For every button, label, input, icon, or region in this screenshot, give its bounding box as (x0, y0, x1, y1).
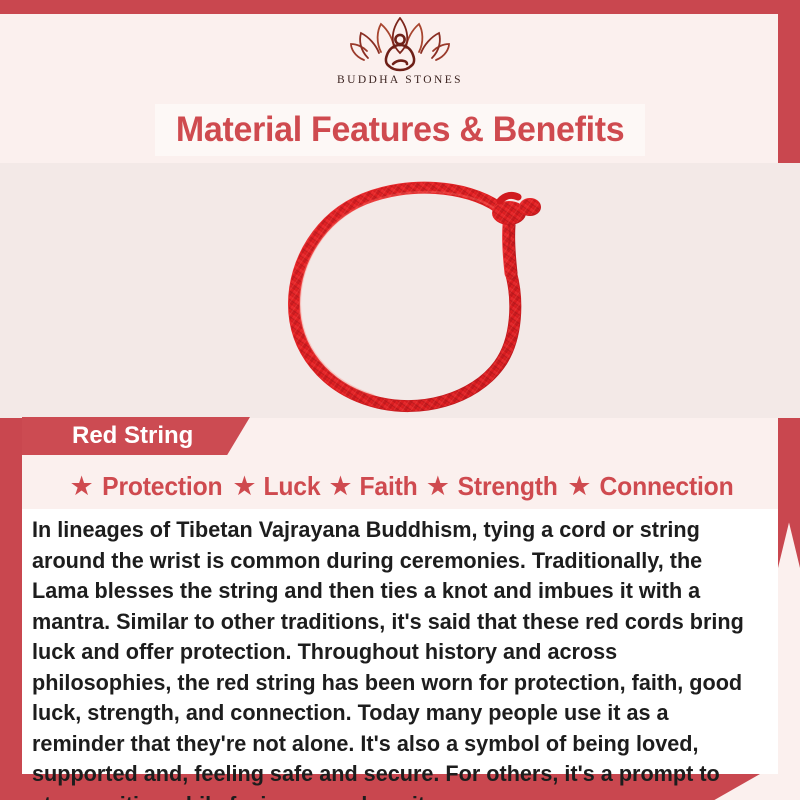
product-photo-band (0, 163, 800, 418)
brand-name: BUDDHA STONES (337, 74, 463, 86)
benefit-item-strength: ★ Strength (419, 471, 561, 502)
benefit-item-protection: ★ Protection (63, 471, 226, 502)
frame-left-bar (0, 396, 22, 776)
infographic-page: BUDDHA STONES Material Features & Benefi… (0, 0, 800, 800)
benefit-label: Faith (359, 471, 417, 502)
benefit-item-luck: ★ Luck (225, 471, 321, 502)
description-panel: In lineages of Tibetan Vajrayana Buddhis… (22, 509, 778, 774)
benefits-row: ★ Protection ★ Luck ★ Faith ★ Strength ★… (22, 464, 778, 508)
star-icon: ★ (328, 473, 352, 500)
red-string-bracelet-image (268, 169, 588, 419)
description-text: In lineages of Tibetan Vajrayana Buddhis… (32, 515, 744, 800)
product-name: Red String (72, 422, 193, 450)
benefit-item-faith: ★ Faith (321, 471, 418, 502)
brand-logo-block: BUDDHA STONES (0, 14, 800, 100)
benefit-label: Strength (458, 471, 558, 502)
benefit-label: Connection (600, 471, 734, 502)
star-icon: ★ (567, 473, 591, 500)
star-icon: ★ (232, 473, 256, 500)
benefit-label: Luck (263, 471, 320, 502)
benefit-label: Protection (102, 471, 222, 502)
page-title: Material Features & Benefits (176, 110, 624, 150)
product-photo (0, 163, 800, 418)
lotus-meditation-icon (348, 14, 452, 76)
star-icon: ★ (426, 473, 450, 500)
product-name-banner: Red String (22, 417, 250, 455)
frame-top-bar (0, 0, 800, 14)
star-icon: ★ (70, 473, 94, 500)
benefit-item-connection: ★ Connection (560, 471, 737, 502)
title-banner: Material Features & Benefits (155, 104, 645, 156)
